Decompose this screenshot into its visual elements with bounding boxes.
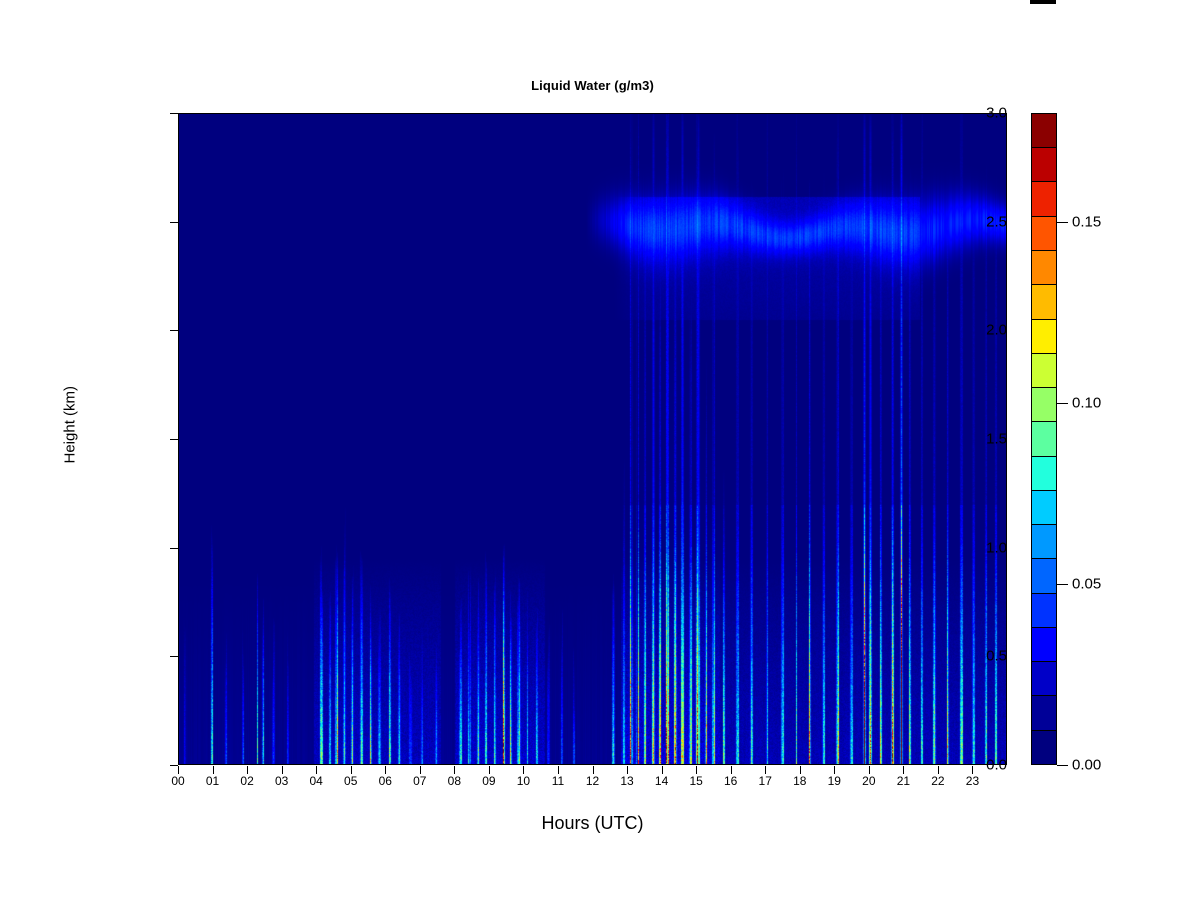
y-tick-mark (170, 330, 178, 331)
x-tick-mark (247, 766, 248, 774)
y-tick-mark (170, 222, 178, 223)
colorbar-tick-mark (1057, 584, 1068, 585)
x-tick-mark (972, 766, 973, 774)
colorbar-cell (1032, 593, 1056, 627)
colorbar-cell (1032, 421, 1056, 455)
heatmap-plot-area (178, 113, 1007, 765)
colorbar-cell (1032, 181, 1056, 215)
y-tick-label: 1.5 (917, 431, 1007, 448)
colorbar-cell (1032, 319, 1056, 353)
x-tick-mark (938, 766, 939, 774)
colorbar-cell (1032, 353, 1056, 387)
x-axis-label: Hours (UTC) (178, 813, 1007, 834)
colorbar-cell (1032, 524, 1056, 558)
y-tick-label: 0.0 (917, 757, 1007, 774)
x-tick-mark (523, 766, 524, 774)
top-artifact-bar (1030, 0, 1056, 4)
colorbar-tick-mark (1057, 765, 1068, 766)
colorbar-cell (1032, 250, 1056, 284)
colorbar-cell (1032, 490, 1056, 524)
y-tick-mark (170, 656, 178, 657)
x-tick-mark (454, 766, 455, 774)
colorbar-cell (1032, 147, 1056, 181)
y-tick-label: 0.5 (917, 648, 1007, 665)
colorbar-cell (1032, 284, 1056, 318)
y-axis (0, 0, 178, 900)
y-tick-mark (170, 765, 178, 766)
colorbar-tick-label: 0.10 (1072, 394, 1101, 411)
x-tick-mark (765, 766, 766, 774)
colorbar (1031, 113, 1057, 765)
colorbar-cell (1032, 456, 1056, 490)
x-tick-mark (178, 766, 179, 774)
x-tick-mark (558, 766, 559, 774)
x-tick-mark (316, 766, 317, 774)
x-tick-mark (282, 766, 283, 774)
x-tick-mark (696, 766, 697, 774)
colorbar-tick-label: 0.15 (1072, 213, 1101, 230)
y-axis-label: Height (km) (62, 432, 79, 464)
x-tick-mark (420, 766, 421, 774)
colorbar-tick-label: 0.05 (1072, 575, 1101, 592)
y-tick-mark (170, 548, 178, 549)
colorbar-cell (1032, 661, 1056, 695)
x-tick-mark (627, 766, 628, 774)
x-tick-mark (869, 766, 870, 774)
colorbar-tick-label: 0.00 (1072, 757, 1101, 774)
x-tick-mark (351, 766, 352, 774)
x-tick-mark (489, 766, 490, 774)
y-tick-label: 1.0 (917, 539, 1007, 556)
colorbar-cell (1032, 387, 1056, 421)
y-tick-label: 2.5 (917, 213, 1007, 230)
colorbar-cell (1032, 730, 1056, 764)
page-title: Liquid Water (g/m3) (178, 78, 1007, 93)
y-tick-label: 3.0 (917, 105, 1007, 122)
colorbar-cell (1032, 558, 1056, 592)
y-tick-label: 2.0 (917, 322, 1007, 339)
colorbar-cell (1032, 216, 1056, 250)
x-tick-mark (834, 766, 835, 774)
colorbar-cell (1032, 695, 1056, 729)
colorbar-tick-mark (1057, 403, 1068, 404)
y-tick-mark (170, 439, 178, 440)
y-tick-mark (170, 113, 178, 114)
x-tick-mark (662, 766, 663, 774)
x-tick-mark (213, 766, 214, 774)
x-tick-mark (593, 766, 594, 774)
heatmap-canvas (179, 114, 1006, 764)
colorbar-cell (1032, 627, 1056, 661)
x-tick-mark (731, 766, 732, 774)
colorbar-tick-mark (1057, 222, 1068, 223)
chart-stage: Liquid Water (g/m3) 0.00.51.01.52.02.53.… (0, 0, 1200, 900)
x-tick-mark (903, 766, 904, 774)
x-tick-label: 23 (950, 774, 994, 788)
colorbar-cell (1032, 114, 1056, 147)
x-tick-mark (385, 766, 386, 774)
x-tick-mark (800, 766, 801, 774)
